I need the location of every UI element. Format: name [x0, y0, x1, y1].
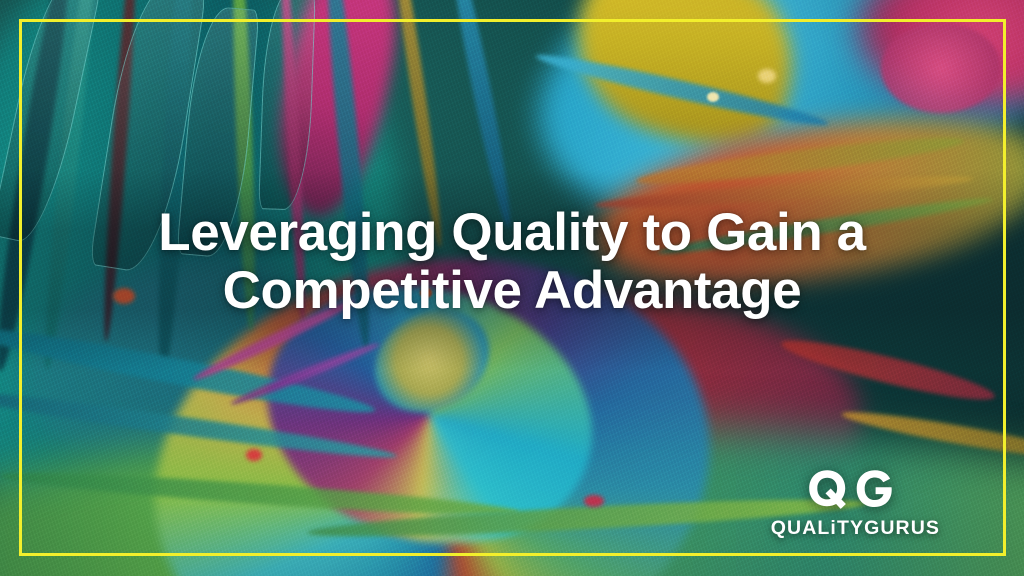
headline-line-2: Competitive Advantage [96, 262, 928, 320]
logo-word-part-1: QUAL [771, 517, 831, 539]
logo-wordmark: QUALiTYGURUS [771, 519, 940, 539]
page-title: Leveraging Quality to Gain a Competitive… [0, 204, 1024, 320]
logo-word-part-2: TY [837, 517, 864, 539]
headline-line-1: Leveraging Quality to Gain a [96, 204, 928, 262]
logo-word-part-3: GURUS [864, 517, 940, 539]
promo-banner: Leveraging Quality to Gain a Competitive… [0, 0, 1024, 576]
qg-monogram-icon [803, 468, 907, 512]
brand-logo[interactable]: QUALiTYGURUS [771, 468, 940, 539]
